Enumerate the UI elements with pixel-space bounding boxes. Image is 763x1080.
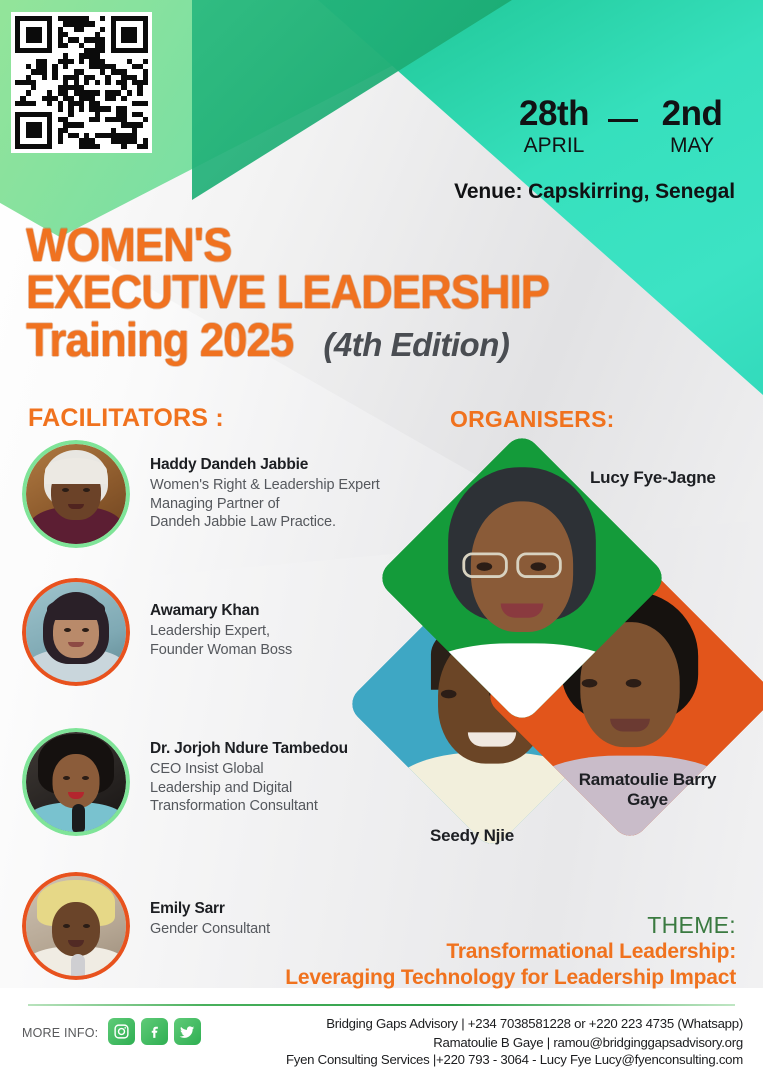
organiser-name-seedy: Seedy Njie [430,826,514,846]
facilitator-photo-ring [22,440,130,548]
facilitator-name: Haddy Dandeh Jabbie [150,456,380,474]
organiser-name-ramatoulie: Ramatoulie Barry Gaye [560,770,735,809]
end-day: 2nd [649,96,735,131]
event-dates: 28th 2nd APRIL MAY [511,96,735,156]
qr-code-matrix [15,16,148,149]
facilitator-details: Haddy Dandeh Jabbie Women's Right & Lead… [150,440,380,532]
date-months-row: APRIL MAY [511,135,735,156]
title-line-1: WOMEN'S [26,222,549,267]
start-day: 28th [511,96,597,131]
facilitator-item: Haddy Dandeh Jabbie Women's Right & Lead… [22,440,380,548]
twitter-icon[interactable] [174,1018,201,1045]
facilitator-photo [22,578,130,686]
title-line-3: Training 2025 [26,317,293,362]
title-line-2: EXECUTIVE LEADERSHIP [26,269,549,314]
contact-block: Bridging Gaps Advisory | +234 7038581228… [326,1014,743,1052]
facilitator-details: Dr. Jorjoh Ndure Tambedou CEO Insist Glo… [150,728,348,816]
facilitator-photo [22,872,130,980]
title-edition: (4th Edition) [323,326,509,364]
theme-label: THEME: [647,912,736,939]
contact-line-2: Ramatoulie B Gaye | ramou@bridginggapsad… [326,1033,743,1052]
facilitator-photo [22,440,130,548]
facilitator-item: Dr. Jorjoh Ndure Tambedou CEO Insist Glo… [22,728,348,836]
theme-line-2: Leveraging Technology for Leadership Imp… [285,966,736,990]
facilitator-role: Women's Right & Leadership Expert Managi… [150,476,380,532]
facilitator-item: Awamary Khan Leadership Expert, Founder … [22,578,292,686]
facilitator-details: Emily Sarr Gender Consultant [150,872,270,939]
contact-line-3: Fyen Consulting Services |+220 793 - 306… [286,1052,743,1067]
facilitator-name: Awamary Khan [150,602,292,620]
date-separator-dash [608,119,638,122]
facilitator-photo-ring [22,578,130,686]
organisers-heading: ORGANISERS: [450,406,615,433]
date-numbers-row: 28th 2nd [511,96,735,131]
facilitator-name: Emily Sarr [150,900,270,918]
theme-line-1: Transformational Leadership: [446,940,736,964]
organiser-name-lucy: Lucy Fye-Jagne [590,468,716,488]
facilitator-photo-ring [22,728,130,836]
facilitator-photo [22,728,130,836]
venue-text: Venue: Capskirring, Senegal [454,180,735,204]
facilitator-photo-ring [22,872,130,980]
facilitator-details: Awamary Khan Leadership Expert, Founder … [150,578,292,659]
contact-line-1: Bridging Gaps Advisory | +234 7038581228… [326,1014,743,1033]
poster-canvas: 28th 2nd APRIL MAY Venue: Capskirring, S… [0,0,763,1080]
facilitators-heading: FACILITATORS : [28,404,224,433]
poster-title: WOMEN'S EXECUTIVE LEADERSHIP Training 20… [26,222,588,364]
facilitator-name: Dr. Jorjoh Ndure Tambedou [150,740,348,758]
start-month: APRIL [511,135,597,156]
more-info-label: MORE INFO: [22,1026,98,1040]
facilitator-role: Leadership Expert, Founder Woman Boss [150,622,292,659]
footer-divider [28,1004,735,1006]
facilitator-role: CEO Insist Global Leadership and Digital… [150,760,348,816]
qr-code[interactable] [11,12,152,153]
facebook-icon[interactable] [141,1018,168,1045]
title-line-3-row: Training 2025 (4th Edition) [26,317,588,364]
instagram-icon[interactable] [108,1018,135,1045]
social-links [108,1018,201,1045]
facilitator-item: Emily Sarr Gender Consultant [22,872,270,980]
end-month: MAY [649,135,735,156]
facilitator-role: Gender Consultant [150,920,270,939]
